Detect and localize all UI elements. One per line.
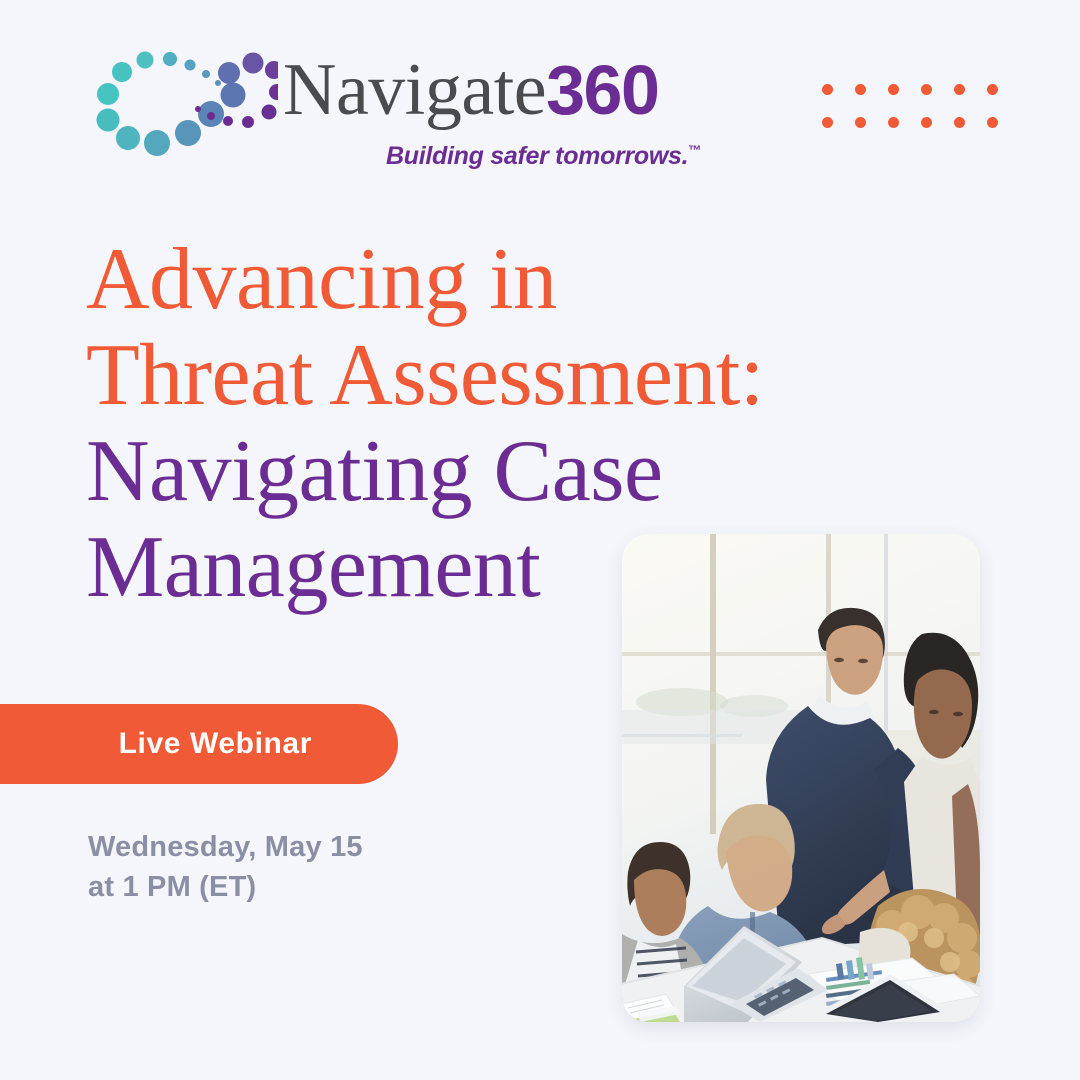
orange-dot-grid: [822, 84, 1020, 150]
live-webinar-badge-label: Live Webinar: [119, 727, 312, 761]
webinar-promo-graphic: Navigate360 Building safer tomorrows.™ A…: [0, 0, 1080, 1080]
decor-dot: [954, 117, 965, 128]
navigate360-wordmark: Navigate360: [283, 48, 658, 132]
navigate360-logo-mark-icon: [78, 50, 278, 158]
navigate360-logo: Navigate360 Building safer tomorrows.™: [78, 46, 658, 171]
decor-dot: [888, 117, 899, 128]
headline-line-3: Navigating Case: [86, 424, 846, 520]
wordmark-primary: Navigate: [283, 49, 546, 131]
decor-dot: [987, 84, 998, 95]
team-meeting-photo: [622, 534, 980, 1022]
brand-tagline-text: Building safer tomorrows.: [386, 142, 688, 170]
decor-dot: [888, 84, 899, 95]
decor-dot: [954, 84, 965, 95]
decor-dot: [822, 117, 833, 128]
decor-dot: [921, 117, 932, 128]
decor-dot: [921, 84, 932, 95]
decor-dot: [855, 117, 866, 128]
trademark-symbol: ™: [688, 143, 701, 158]
headline-line-1: Advancing in: [86, 232, 846, 328]
decor-dot: [822, 84, 833, 95]
headline-line-2: Threat Assessment:: [86, 328, 846, 424]
decor-dot: [987, 117, 998, 128]
decor-dot: [855, 84, 866, 95]
event-date: Wednesday, May 15: [88, 827, 363, 867]
live-webinar-badge: Live Webinar: [0, 704, 398, 784]
brand-tagline: Building safer tomorrows.™: [321, 142, 701, 171]
event-time: at 1 PM (ET): [88, 867, 363, 907]
event-schedule: Wednesday, May 15 at 1 PM (ET): [88, 827, 363, 907]
wordmark-accent: 360: [546, 51, 658, 129]
